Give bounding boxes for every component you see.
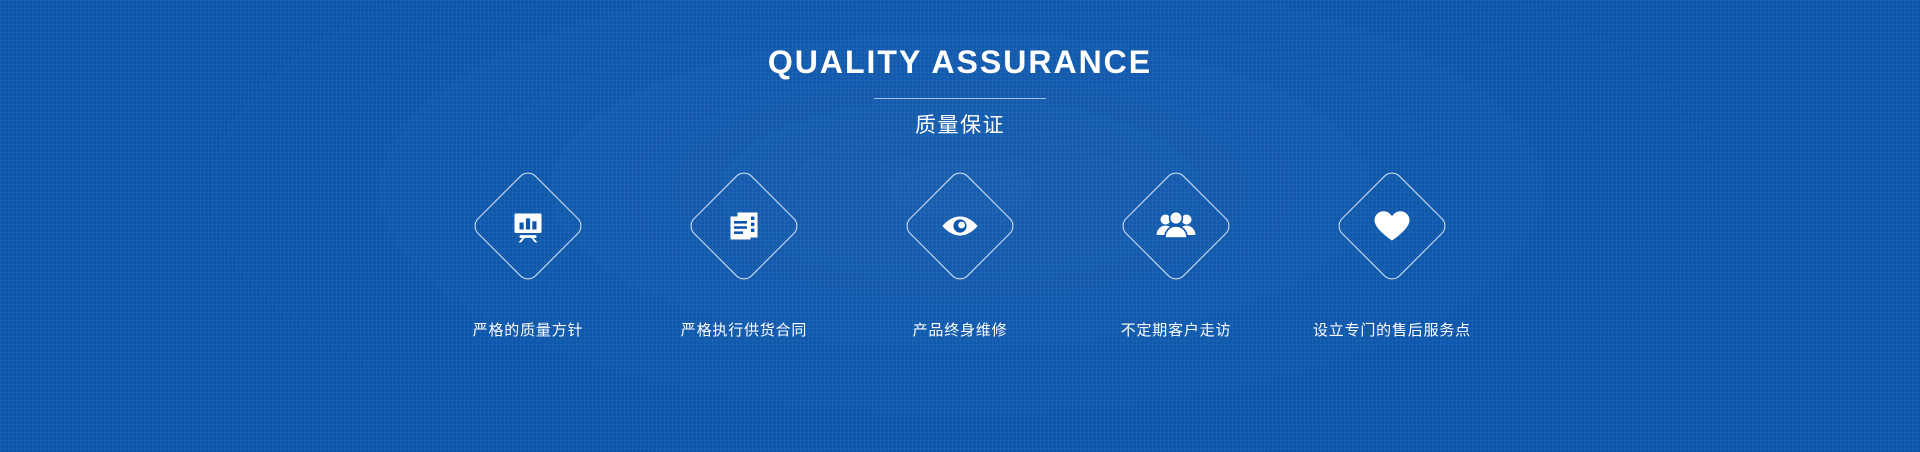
people-group-icon [1154, 204, 1198, 248]
diamond-frame-4 [1118, 168, 1234, 284]
feature-item-label: 设立专门的售后服务点 [1313, 320, 1471, 340]
feature-item-customer-visits[interactable]: 不定期客户走访 [1068, 168, 1284, 340]
feature-item-service-points[interactable]: 设立专门的售后服务点 [1284, 168, 1500, 340]
feature-item-supply-contract[interactable]: 严格执行供货合同 [636, 168, 852, 340]
banner-header: QUALITY ASSURANCE 质量保证 [0, 44, 1920, 138]
documents-contract-icon [722, 204, 766, 248]
feature-item-label: 严格执行供货合同 [681, 320, 807, 340]
page-subtitle-chinese: 质量保证 [0, 112, 1920, 138]
diamond-frame-2 [686, 168, 802, 284]
feature-item-label: 严格的质量方针 [473, 320, 584, 340]
feature-item-lifetime-maintenance[interactable]: 产品终身维修 [852, 168, 1068, 340]
feature-item-label: 产品终身维修 [913, 320, 1008, 340]
heart-icon [1370, 204, 1414, 248]
eye-icon [938, 204, 982, 248]
diamond-frame-1 [470, 168, 586, 284]
page-title-english: QUALITY ASSURANCE [0, 44, 1920, 80]
title-divider [874, 98, 1046, 99]
quality-assurance-banner: QUALITY ASSURANCE 质量保证 [0, 0, 1920, 452]
feature-items-row: 严格的质量方针 [420, 168, 1500, 340]
diamond-frame-5 [1334, 168, 1450, 284]
diamond-frame-3 [902, 168, 1018, 284]
presentation-chart-icon [506, 204, 550, 248]
feature-item-quality-policy[interactable]: 严格的质量方针 [420, 168, 636, 340]
feature-item-label: 不定期客户走访 [1121, 320, 1232, 340]
